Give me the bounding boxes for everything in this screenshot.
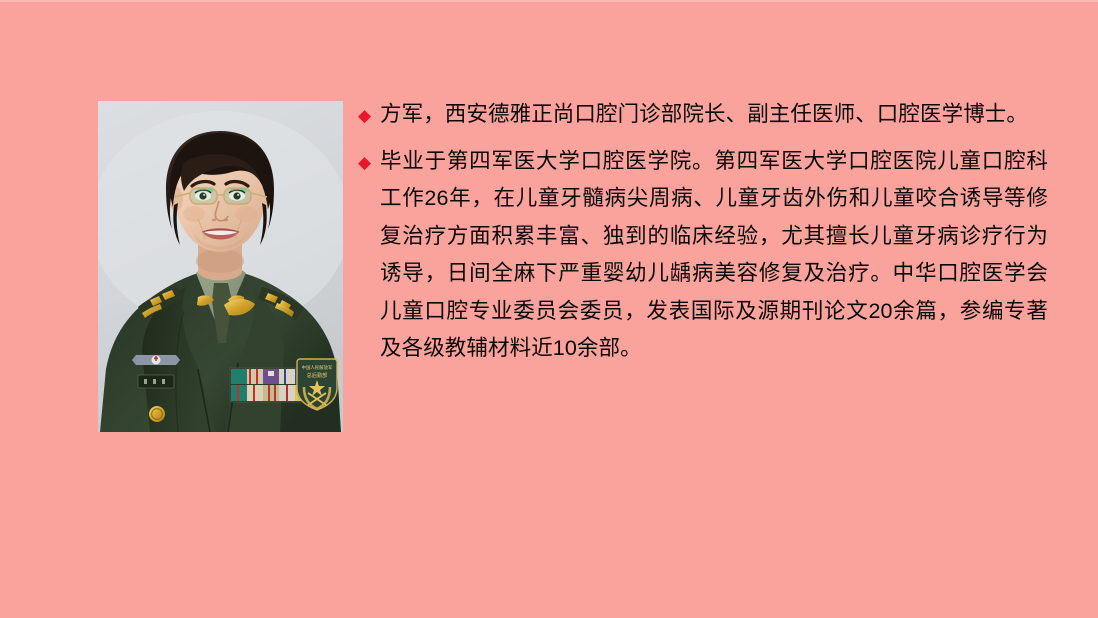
diamond-bullet-icon: ◆	[358, 96, 380, 135]
portrait-illustration: 中国人民解放军 总后勤部	[98, 101, 343, 432]
uniform-arm-patch: 中国人民解放军 总后勤部	[297, 359, 337, 410]
portrait-photo: 中国人民解放军 总后勤部	[98, 101, 343, 432]
slide-top-edge	[0, 0, 1098, 2]
uniform-service-badge	[132, 355, 180, 365]
slide-canvas: 中国人民解放军 总后勤部	[0, 0, 1098, 618]
content-text-block: ◆ 方军，西安德雅正尚口腔门诊部院长、副主任医师、口腔医学博士。 ◆ 毕业于第四…	[358, 96, 1048, 376]
uniform-name-tag	[138, 375, 174, 388]
bullet-text-intro: 方军，西安德雅正尚口腔门诊部院长、副主任医师、口腔医学博士。	[380, 96, 1048, 134]
bullet-item: ◆ 方军，西安德雅正尚口腔门诊部院长、副主任医师、口腔医学博士。	[358, 96, 1048, 135]
bullet-text-biography: 毕业于第四军医大学口腔医学院。第四军医大学口腔医院儿童口腔科工作26年，在儿童牙…	[380, 143, 1048, 368]
diamond-bullet-icon: ◆	[358, 143, 380, 182]
bullet-item: ◆ 毕业于第四军医大学口腔医学院。第四军医大学口腔医院儿童口腔科工作26年，在儿…	[358, 143, 1048, 368]
arm-patch-line2: 总后勤部	[307, 371, 328, 379]
arm-patch-line1: 中国人民解放军	[302, 364, 333, 371]
